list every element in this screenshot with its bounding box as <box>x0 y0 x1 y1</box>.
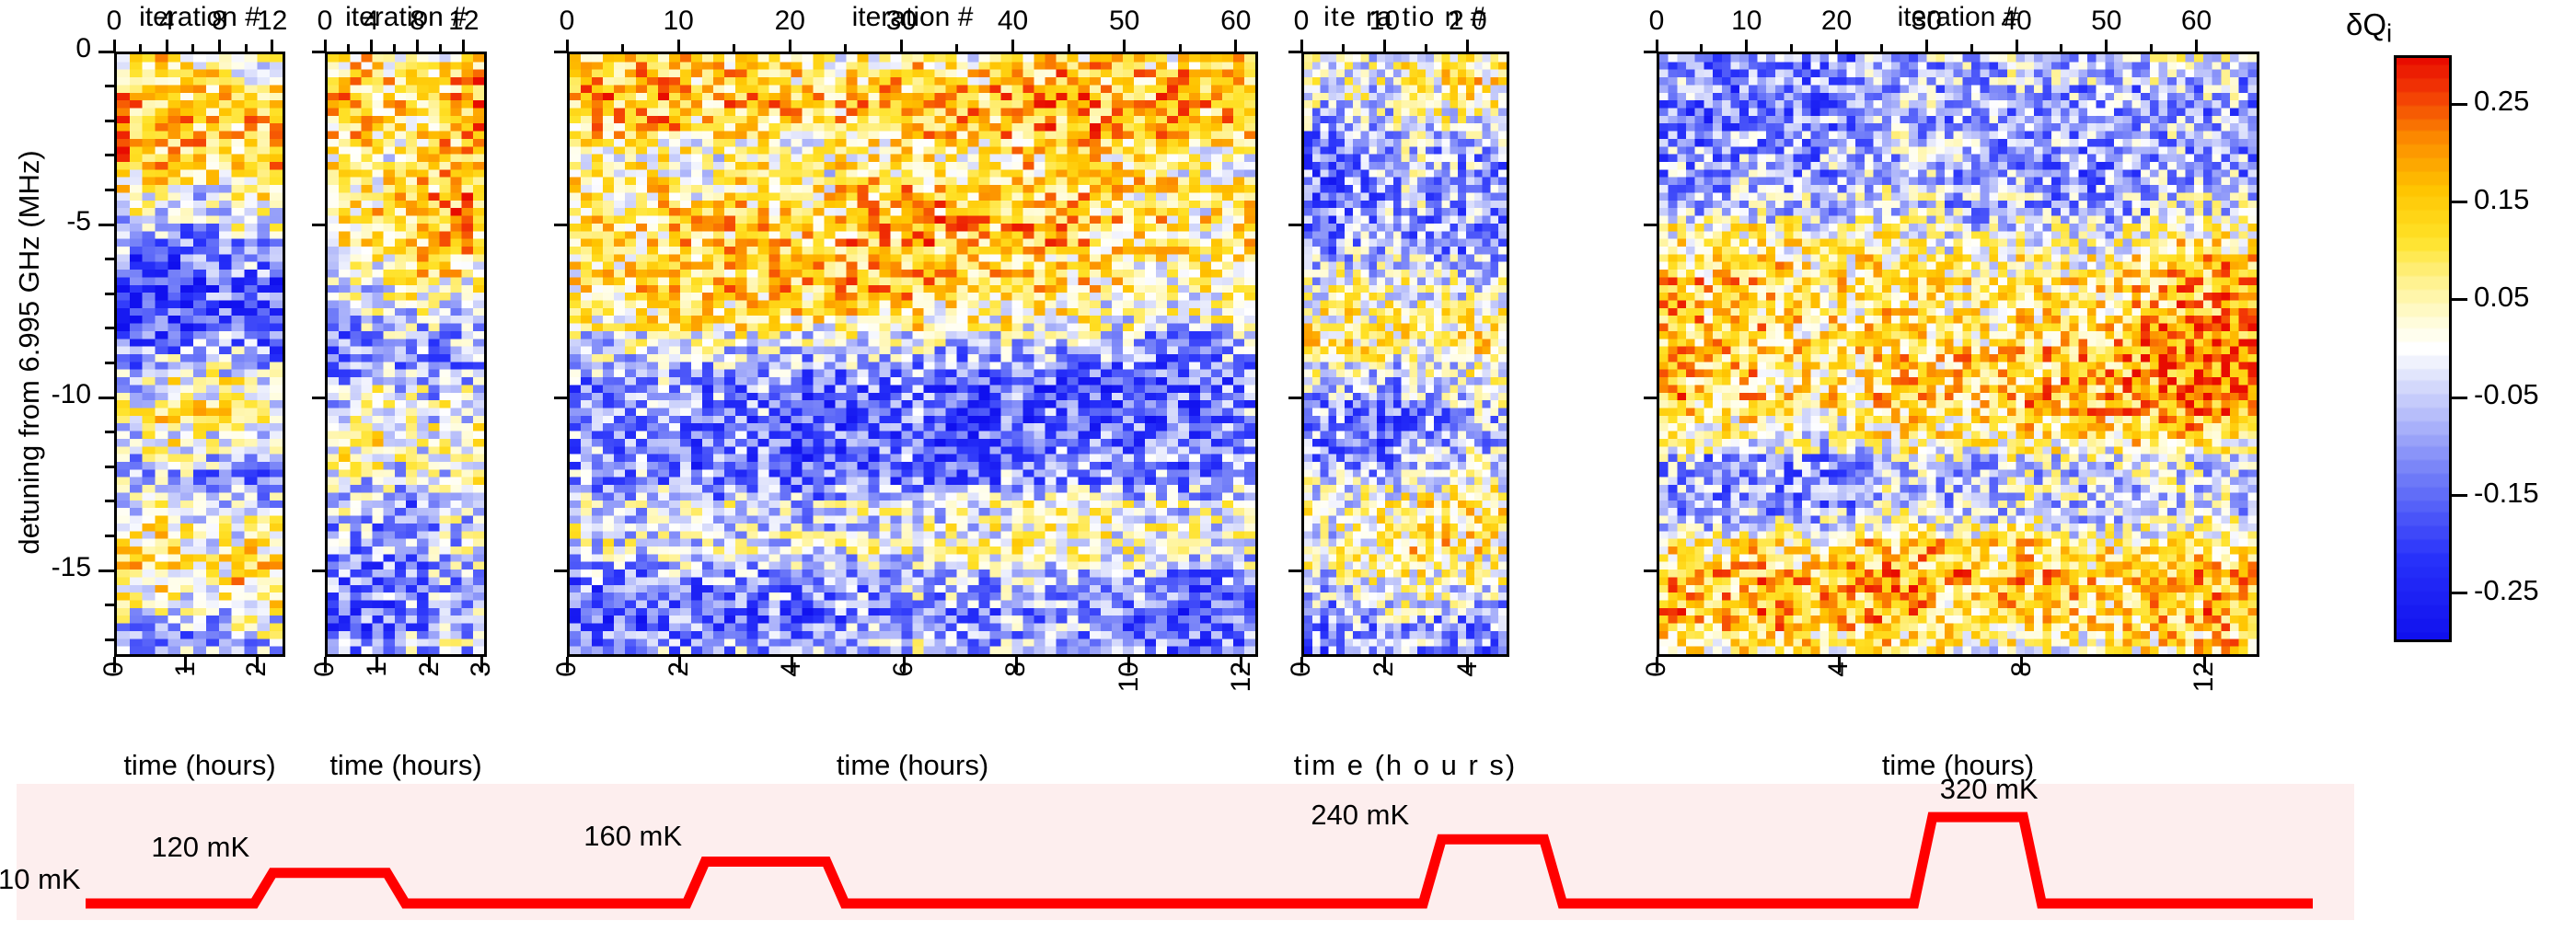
y-axis-minor-tick <box>105 120 115 122</box>
colorbar-tick-label: -0.15 <box>2474 477 2539 510</box>
panel-5-top-tick <box>2105 40 2108 52</box>
colorbar-tick <box>2452 592 2467 594</box>
y-axis-minor-tick <box>105 639 115 641</box>
panel-3-top-tick <box>1011 40 1014 52</box>
panel-3-top-tick <box>1234 40 1237 52</box>
panel-5-top-minor-tick <box>2150 44 2153 52</box>
panel-2-bottom-tick-label: 1 <box>362 662 393 735</box>
panel-3-bottom-tick-label: 0 <box>551 662 583 735</box>
panel-5-top-tick <box>1835 40 1838 52</box>
y-axis-tick-secondary <box>1644 51 1658 53</box>
panel-4-top-tick <box>1383 40 1386 52</box>
colorbar-tick-label: 0.05 <box>2474 281 2529 314</box>
panel-4-bottom-tick-label: 2 <box>1369 662 1400 735</box>
panel-4-top-minor-tick <box>1425 44 1427 52</box>
panel-3-bottom-tick-label: 8 <box>1000 662 1032 735</box>
y-axis-major-tick <box>98 51 115 53</box>
panel-2-bottom-tick-label: 3 <box>466 662 497 735</box>
panel-2-heatmap <box>325 52 487 657</box>
panel-3-top-tick-label: 50 <box>1083 6 1166 37</box>
y-axis-tick-secondary <box>312 397 326 399</box>
colorbar-tick-label: -0.05 <box>2474 378 2539 411</box>
panel-3-top-minor-tick <box>1068 44 1070 52</box>
y-axis-major-tick <box>98 224 115 226</box>
y-axis-minor-tick <box>105 189 115 191</box>
temperature-base-label: 10 mK <box>0 863 81 896</box>
panel-2-top-minor-tick <box>393 44 396 52</box>
panel-4-bottom-tick-label: 4 <box>1452 662 1484 735</box>
colorbar-title: δQi <box>2346 7 2392 49</box>
y-axis-tick-secondary <box>1288 224 1302 226</box>
y-axis-major-tick <box>98 397 115 399</box>
colorbar-gradient <box>2394 55 2452 642</box>
panel-4-top-tick <box>1466 40 1469 52</box>
y-axis-minor-tick <box>105 258 115 260</box>
colorbar-tick <box>2452 397 2467 399</box>
y-axis-tick-label: -5 <box>0 206 91 237</box>
panel-2-top-tick <box>370 40 373 52</box>
temperature-step-label: 240 mK <box>1311 799 1409 832</box>
panel-1-top-tick <box>166 40 168 52</box>
panel-3-top-minor-tick <box>844 44 847 52</box>
panel-5-top-tick-label: 10 <box>1705 6 1788 37</box>
panel-5-top-minor-tick <box>1970 44 1973 52</box>
panel-5-bottom-tick-label: 4 <box>1823 662 1854 735</box>
panel-3-heatmap <box>567 52 1258 657</box>
panel-2-top-tick <box>416 40 419 52</box>
panel-3-top-tick <box>1123 40 1126 52</box>
panel-3-bottom-tick-label: 6 <box>888 662 919 735</box>
panel-2-top-minor-tick <box>347 44 350 52</box>
y-axis-minor-tick <box>105 85 115 87</box>
y-axis-minor-tick <box>105 154 115 156</box>
panel-1-top-minor-tick <box>245 44 248 52</box>
panel-3-top-minor-tick <box>733 44 735 52</box>
y-axis-tick-secondary <box>554 397 568 399</box>
panel-5-top-tick-label: 30 <box>1885 6 1968 37</box>
colorbar-tick-label: 0.25 <box>2474 85 2529 118</box>
panel-3-top-tick <box>677 40 680 52</box>
panel-5-top-tick-label: 40 <box>1975 6 2058 37</box>
y-axis-tick-secondary <box>554 570 568 572</box>
panel-3-bottom-tick-label: 4 <box>776 662 807 735</box>
panel-1-heatmap <box>114 52 285 657</box>
panel-5-top-minor-tick <box>1880 44 1883 52</box>
panel-5-heatmap <box>1657 52 2259 657</box>
panel-3-top-tick-label: 40 <box>972 6 1055 37</box>
y-axis-major-tick <box>98 570 115 572</box>
y-axis-minor-tick <box>105 500 115 502</box>
panel-5-top-tick-label: 60 <box>2155 6 2238 37</box>
y-axis-tick-label: -10 <box>0 379 91 410</box>
panel-3-top-tick-label: 30 <box>860 6 942 37</box>
y-axis-tick-label: -15 <box>0 552 91 583</box>
panel-4-top-tick-label: 0 <box>1260 6 1343 37</box>
y-axis-minor-tick <box>105 604 115 606</box>
temperature-step-label: 320 mK <box>1940 773 2039 806</box>
temperature-step-label: 160 mK <box>583 820 682 853</box>
panel-3-top-minor-tick <box>955 44 958 52</box>
panel-2-top-tick <box>462 40 465 52</box>
panel-2-bottom-tick-label: 2 <box>414 662 445 735</box>
y-axis-tick-label: 0 <box>0 33 91 64</box>
y-axis-tick-secondary <box>312 51 326 53</box>
colorbar-title-subscript: i <box>2386 19 2392 48</box>
colorbar-tick-label: -0.25 <box>2474 574 2539 607</box>
panel-5-top-tick <box>1925 40 1928 52</box>
panel-3-top-tick-label: 20 <box>748 6 831 37</box>
panel-4-top-tick-label: 2 0 <box>1427 6 1509 37</box>
panel-5-top-tick <box>1745 40 1748 52</box>
panel-4-heatmap <box>1301 52 1509 657</box>
y-axis-tick-secondary <box>1644 570 1658 572</box>
panel-3-top-tick-label: 10 <box>637 6 720 37</box>
y-axis-tick-secondary <box>1644 224 1658 226</box>
panel-1-top-minor-tick <box>191 44 194 52</box>
panel-1-top-tick <box>271 40 273 52</box>
y-axis-tick-secondary <box>1288 570 1302 572</box>
figure-root: detuning from 6.995 GHz (MHz) iteration … <box>0 0 2576 932</box>
temperature-step-path <box>86 817 2313 903</box>
panel-5-top-tick-label: 20 <box>1796 6 1878 37</box>
panel-5-bottom-tick-label: 0 <box>1641 662 1672 735</box>
colorbar-tick <box>2452 494 2467 497</box>
y-axis-tick-secondary <box>554 51 568 53</box>
panel-5-top-minor-tick <box>1700 44 1703 52</box>
panel-4-top-tick-label: 10 <box>1343 6 1426 37</box>
panel-3-top-minor-tick <box>621 44 624 52</box>
panel-1-bottom-tick-label: 0 <box>98 662 130 735</box>
y-axis-tick-secondary <box>1288 51 1302 53</box>
y-axis-tick-secondary <box>312 224 326 226</box>
panel-5-bottom-tick-label: 8 <box>2006 662 2038 735</box>
panel-3-bottom-tick-label: 12 <box>1226 662 1257 735</box>
panel-3-top-minor-tick <box>1179 44 1182 52</box>
y-axis-minor-tick <box>105 362 115 364</box>
y-axis-minor-tick <box>105 535 115 537</box>
panel-3-top-tick <box>789 40 791 52</box>
panel-4-top-minor-tick <box>1342 44 1345 52</box>
temperature-timeline: 10 mK120 mK160 mK240 mK320 mK <box>17 784 2354 920</box>
panel-3-bottom-tick-label: 2 <box>664 662 695 735</box>
panel-5-top-tick-label: 0 <box>1615 6 1698 37</box>
panel-5-top-minor-tick <box>2060 44 2062 52</box>
panel-5-top-tick <box>2016 40 2018 52</box>
panel-1-top-tick <box>218 40 221 52</box>
panel-1-bottom-tick-label: 1 <box>170 662 202 735</box>
panel-2-top-minor-tick <box>439 44 442 52</box>
y-axis-minor-tick <box>105 431 115 433</box>
colorbar-tick <box>2452 201 2467 203</box>
panel-3-top-tick-label: 0 <box>526 6 608 37</box>
panel-1-top-minor-tick <box>139 44 142 52</box>
panel-5-bottom-tick-label: 12 <box>2189 662 2220 735</box>
panel-5-top-tick <box>2195 40 2198 52</box>
y-axis-minor-tick <box>105 466 115 468</box>
colorbar-title-text: δQ <box>2346 7 2386 41</box>
y-axis-tick-secondary <box>554 224 568 226</box>
panel-5-top-minor-tick <box>1790 44 1793 52</box>
temperature-step-label: 120 mK <box>151 831 249 864</box>
panel-4-bottom-tick-label: 0 <box>1286 662 1317 735</box>
panel-5-top-tick-label: 50 <box>2065 6 2148 37</box>
y-axis-tick-secondary <box>312 570 326 572</box>
y-axis-tick-secondary <box>1288 397 1302 399</box>
y-axis-minor-tick <box>105 293 115 295</box>
y-axis-minor-tick <box>105 327 115 329</box>
panel-1-bottom-tick-label: 2 <box>241 662 272 735</box>
colorbar-tick <box>2452 103 2467 106</box>
y-axis-tick-secondary <box>1644 397 1658 399</box>
colorbar-tick <box>2452 298 2467 301</box>
panel-3-top-tick <box>900 40 903 52</box>
colorbar-tick-label: 0.15 <box>2474 183 2529 216</box>
panel-3-bottom-tick-label: 10 <box>1114 662 1145 735</box>
panel-2-bottom-tick-label: 0 <box>309 662 341 735</box>
